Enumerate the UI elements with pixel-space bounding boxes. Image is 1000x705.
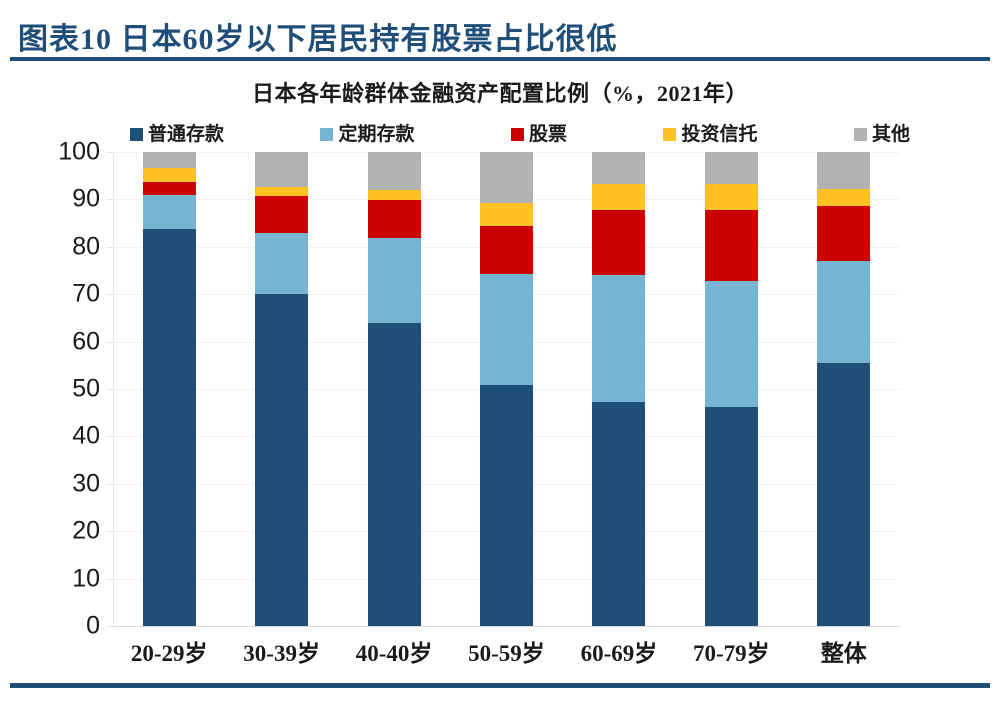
bar-slot <box>113 152 225 626</box>
stacked-bar[interactable] <box>368 152 421 626</box>
x-axis-tick-labels: 20-29岁30-39岁40-40岁50-59岁60-69岁70-79岁整体 <box>113 634 900 674</box>
x-tick-label: 整体 <box>788 634 900 674</box>
y-axis-tick-mark <box>107 484 113 485</box>
bar-segment-投资信托[interactable] <box>817 189 870 206</box>
bar-segment-定期存款[interactable] <box>592 275 645 402</box>
bar-segment-投资信托[interactable] <box>143 168 196 182</box>
bar-segment-其他[interactable] <box>592 152 645 184</box>
bar-segment-股票[interactable] <box>143 182 196 195</box>
legend-item-其他[interactable]: 其他 <box>854 125 910 144</box>
y-axis-tick-mark <box>107 579 113 580</box>
chart-subtitle: 日本各年龄群体金融资产配置比例（%，2021年） <box>0 76 1000 108</box>
stacked-bar[interactable] <box>592 152 645 626</box>
y-tick-label: 60 <box>72 327 100 356</box>
bar-slot <box>338 152 450 626</box>
bar-slot <box>788 152 900 626</box>
bar-segment-普通存款[interactable] <box>705 407 758 626</box>
stacked-bar[interactable] <box>143 152 196 626</box>
x-axis-line <box>113 626 900 627</box>
y-tick-label: 50 <box>72 375 100 404</box>
square-swatch-icon <box>320 128 333 141</box>
bar-segment-股票[interactable] <box>705 210 758 281</box>
y-tick-label: 10 <box>72 564 100 593</box>
bar-segment-股票[interactable] <box>255 196 308 233</box>
legend-item-投资信托[interactable]: 投资信托 <box>663 125 757 144</box>
bar-segment-定期存款[interactable] <box>368 238 421 322</box>
bar-segment-投资信托[interactable] <box>592 184 645 210</box>
bar-segment-投资信托[interactable] <box>480 203 533 226</box>
bar-slot <box>563 152 675 626</box>
legend-item-label: 其他 <box>872 125 910 144</box>
bar-segment-定期存款[interactable] <box>480 274 533 385</box>
square-swatch-icon <box>130 128 143 141</box>
bar-slot <box>675 152 787 626</box>
bar-segment-投资信托[interactable] <box>705 184 758 210</box>
stacked-bar[interactable] <box>480 152 533 626</box>
y-tick-label: 0 <box>86 612 100 641</box>
y-axis-tick-mark <box>107 247 113 248</box>
square-swatch-icon <box>854 128 867 141</box>
bar-segment-其他[interactable] <box>143 152 196 168</box>
legend-item-label: 定期存款 <box>338 125 414 144</box>
bar-slot <box>225 152 337 626</box>
legend-item-label: 投资信托 <box>681 125 757 144</box>
y-axis-tick-mark <box>107 531 113 532</box>
bar-segment-其他[interactable] <box>255 152 308 187</box>
y-tick-label: 90 <box>72 185 100 214</box>
bar-segment-定期存款[interactable] <box>817 261 870 363</box>
bar-segment-股票[interactable] <box>592 210 645 275</box>
y-tick-label: 30 <box>72 469 100 498</box>
bar-segment-普通存款[interactable] <box>143 229 196 626</box>
title-divider <box>10 57 990 61</box>
y-axis-tick-mark <box>107 389 113 390</box>
legend-item-普通存款[interactable]: 普通存款 <box>130 125 224 144</box>
y-axis-tick-mark <box>107 294 113 295</box>
bar-segment-定期存款[interactable] <box>255 233 308 294</box>
square-swatch-icon <box>511 128 524 141</box>
x-tick-label: 30-39岁 <box>225 634 337 674</box>
y-axis-tick-mark <box>107 152 113 153</box>
bar-segment-股票[interactable] <box>817 206 870 261</box>
chart-legend: 普通存款定期存款股票投资信托其他 <box>130 120 910 148</box>
legend-item-股票[interactable]: 股票 <box>511 125 567 144</box>
y-tick-label: 70 <box>72 280 100 309</box>
bar-segment-普通存款[interactable] <box>480 385 533 626</box>
y-tick-label: 100 <box>58 138 100 167</box>
bar-segment-普通存款[interactable] <box>817 363 870 626</box>
bar-segment-普通存款[interactable] <box>368 323 421 626</box>
y-axis-tick-mark <box>107 342 113 343</box>
plot-area <box>113 152 900 626</box>
y-axis-tick-mark <box>107 626 113 627</box>
y-axis-tick-labels: 1009080706050403020100 <box>34 152 100 626</box>
bar-segment-定期存款[interactable] <box>143 195 196 230</box>
bar-segment-普通存款[interactable] <box>255 294 308 626</box>
bar-segment-其他[interactable] <box>705 152 758 184</box>
bar-segment-其他[interactable] <box>817 152 870 188</box>
bar-segment-股票[interactable] <box>368 200 421 238</box>
footer-divider <box>10 683 990 688</box>
legend-item-label: 普通存款 <box>148 125 224 144</box>
legend-item-定期存款[interactable]: 定期存款 <box>320 125 414 144</box>
stacked-bar[interactable] <box>705 152 758 626</box>
bar-slot <box>450 152 562 626</box>
bar-segment-其他[interactable] <box>368 152 421 190</box>
y-tick-label: 80 <box>72 232 100 261</box>
y-axis-tick-mark <box>107 199 113 200</box>
stacked-bar[interactable] <box>817 152 870 626</box>
x-tick-label: 60-69岁 <box>563 634 675 674</box>
x-tick-label: 40-40岁 <box>338 634 450 674</box>
bar-segment-其他[interactable] <box>480 152 533 203</box>
bar-segment-普通存款[interactable] <box>592 402 645 626</box>
x-tick-label: 70-79岁 <box>675 634 787 674</box>
x-tick-label: 20-29岁 <box>113 634 225 674</box>
stacked-bar[interactable] <box>255 152 308 626</box>
figure-page: 图表10 日本60岁以下居民持有股票占比很低 日本各年龄群体金融资产配置比例（%… <box>0 0 1000 705</box>
bar-segment-投资信托[interactable] <box>368 190 421 200</box>
bar-segment-股票[interactable] <box>480 226 533 273</box>
bar-series-group <box>113 152 900 626</box>
bar-segment-投资信托[interactable] <box>255 187 308 196</box>
square-swatch-icon <box>663 128 676 141</box>
legend-item-label: 股票 <box>529 125 567 144</box>
y-tick-label: 20 <box>72 517 100 546</box>
bar-segment-定期存款[interactable] <box>705 281 758 407</box>
figure-title: 图表10 日本60岁以下居民持有股票占比很低 <box>18 14 618 58</box>
y-axis-tick-mark <box>107 436 113 437</box>
y-tick-label: 40 <box>72 422 100 451</box>
x-tick-label: 50-59岁 <box>450 634 562 674</box>
